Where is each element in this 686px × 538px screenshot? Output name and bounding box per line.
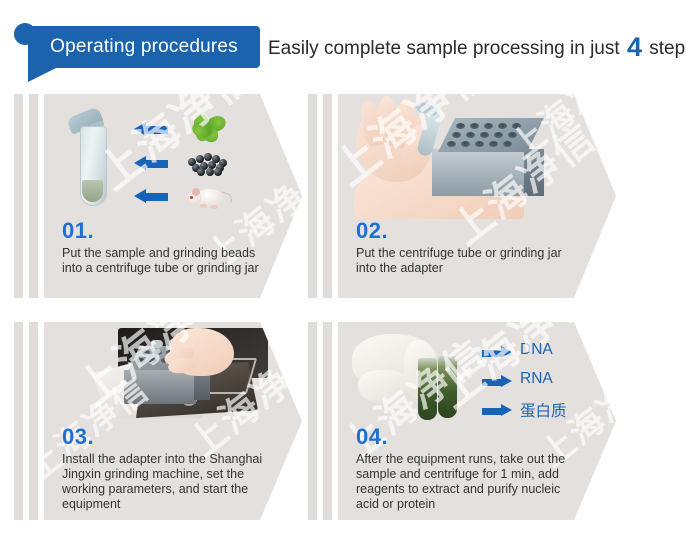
adapter-well <box>489 141 498 147</box>
step-1-image <box>62 104 252 216</box>
step-card-4[interactable]: DNA RNA 蛋白质 上海净信 上海净信 上海净信 04. After the… <box>308 322 616 520</box>
adapter-well <box>149 358 157 363</box>
card-accent-bar <box>14 322 23 520</box>
adapter-well <box>456 123 465 129</box>
adapter-well <box>452 132 461 138</box>
adapter-well <box>503 141 512 147</box>
subtitle-text-before: Easily complete sample processing in jus… <box>268 38 625 59</box>
plant-leaf-icon <box>188 111 228 145</box>
card-panel: 上海净信 上海净信 上海净信 03. Install the adapter i… <box>44 322 302 520</box>
card-panel: DNA RNA 蛋白质 上海净信 上海净信 上海净信 04. After the… <box>338 322 616 520</box>
mouse-foot-icon <box>211 205 218 209</box>
step-3-image <box>92 328 274 420</box>
card-accent-bar <box>308 94 317 298</box>
step-3-number: 03. <box>62 424 94 450</box>
subtitle-text-after: steps: <box>644 38 686 59</box>
sample-tube-icon <box>438 356 457 418</box>
card-accent-bar <box>29 94 38 298</box>
left-arrow-icon <box>134 189 168 204</box>
adapter-well <box>484 123 493 129</box>
adapter-well <box>508 132 517 138</box>
grinding-beads-icon <box>186 150 230 176</box>
adapter-well <box>461 141 470 147</box>
card-accent-bar <box>323 94 332 298</box>
step-4-description: After the equipment runs, take out the s… <box>356 452 594 512</box>
left-arrow-icon <box>134 156 168 171</box>
card-accent-bar <box>308 322 317 520</box>
left-arrow-icon <box>134 122 168 137</box>
mouse-foot-icon <box>200 204 207 208</box>
output-label-protein: 蛋白质 <box>520 399 567 421</box>
operating-procedures-banner: Operating procedures <box>28 26 260 68</box>
step-card-1[interactable]: 上海净信 上海净信 01. Put the sample and grindin… <box>14 94 302 298</box>
adapter-well <box>470 123 479 129</box>
card-panel: 上海净信 上海净信 01. Put the sample and grindin… <box>44 94 302 298</box>
right-arrow-icon <box>482 346 512 359</box>
adapter-well <box>447 141 456 147</box>
glove-finger-icon <box>358 370 410 404</box>
adapter-well <box>154 350 162 355</box>
output-label-dna: DNA <box>520 341 553 359</box>
sample-tube-icon <box>418 358 437 420</box>
card-accent-bar <box>323 322 332 520</box>
step-4-image: DNA RNA 蛋白质 <box>352 330 572 426</box>
block-side-face <box>524 149 544 196</box>
adapter-well <box>494 132 503 138</box>
block-front-face <box>432 149 528 196</box>
page-header: Operating procedures Easily complete sam… <box>0 0 686 84</box>
adapter-well <box>466 132 475 138</box>
adapter-block-icon <box>432 118 544 196</box>
adapter-well <box>137 358 145 363</box>
step-card-3[interactable]: 上海净信 上海净信 上海净信 03. Install the adapter i… <box>14 322 302 520</box>
step-count-number: 4 <box>625 32 644 62</box>
tube-liquid-icon <box>82 180 103 202</box>
step-2-number: 02. <box>356 218 388 244</box>
centrifuge-tube-icon <box>68 112 114 210</box>
step-2-description: Put the centrifuge tube or grinding jar … <box>356 246 591 276</box>
tube-cap-icon <box>151 340 163 348</box>
header-banner-tail <box>28 68 56 82</box>
small-tube-cap-icon <box>415 101 439 117</box>
adapter-well <box>142 350 150 355</box>
lab-mouse-icon <box>186 184 230 210</box>
step-1-number: 01. <box>62 218 94 244</box>
card-accent-bar <box>14 94 23 298</box>
adapter-well <box>480 132 489 138</box>
step-4-number: 04. <box>356 424 388 450</box>
adapter-well <box>512 123 521 129</box>
step-2-image <box>344 94 564 219</box>
mouse-ear-icon <box>192 188 200 196</box>
right-arrow-icon <box>482 404 512 417</box>
step-card-2[interactable]: 上海净信 上海净信 上海净信 02. Put the centrifuge tu… <box>308 94 616 298</box>
card-panel: 上海净信 上海净信 上海净信 02. Put the centrifuge tu… <box>338 94 616 298</box>
block-front-face <box>124 370 196 404</box>
right-arrow-icon <box>482 375 512 388</box>
page-title: Easily complete sample processing in jus… <box>268 28 686 68</box>
step-3-description: Install the adapter into the Shanghai Ji… <box>62 452 282 512</box>
adapter-well <box>475 141 484 147</box>
banner-label: Operating procedures <box>28 26 260 68</box>
mouse-eye-icon <box>190 196 193 199</box>
card-accent-bar <box>29 322 38 520</box>
step-1-description: Put the sample and grinding beads into a… <box>62 246 292 276</box>
adapter-well <box>498 123 507 129</box>
output-label-rna: RNA <box>520 370 553 388</box>
